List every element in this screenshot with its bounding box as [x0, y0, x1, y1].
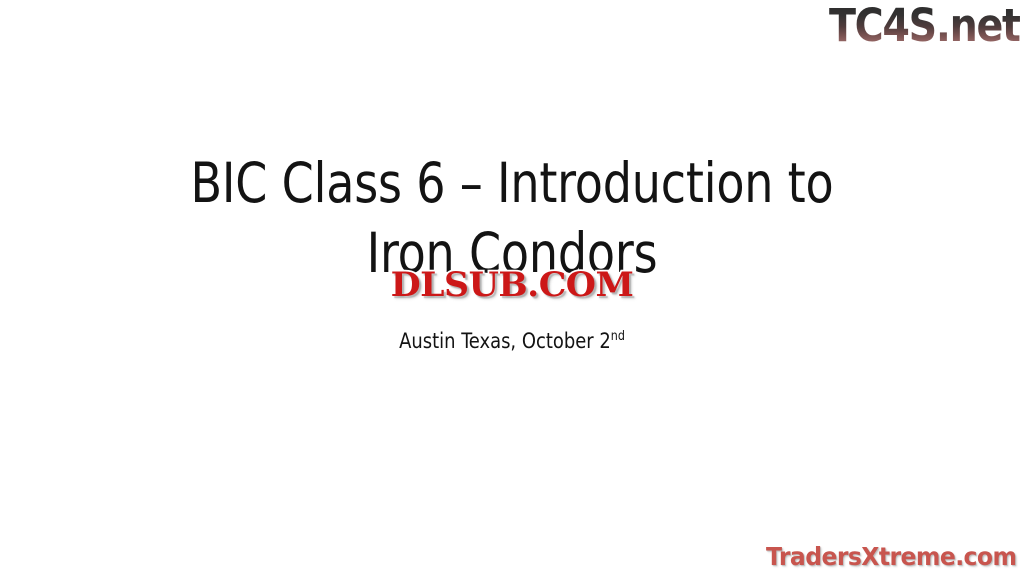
page-title: BIC Class 6 – Introduction to Iron Condo…	[36, 148, 988, 288]
subtitle-ordinal-suffix: nd	[611, 329, 625, 344]
slide-subtitle: Austin Texas, October 2nd	[26, 328, 999, 354]
tc4s-watermark: TC4S.net	[829, 2, 1020, 49]
subtitle-text: Austin Texas, October 2	[399, 329, 611, 353]
presentation-slide: TC4S.net BIC Class 6 – Introduction to I…	[0, 0, 1024, 576]
title-block: BIC Class 6 – Introduction to Iron Condo…	[0, 148, 1024, 288]
tradersxtreme-watermark: TradersXtreme.com	[766, 543, 1016, 571]
